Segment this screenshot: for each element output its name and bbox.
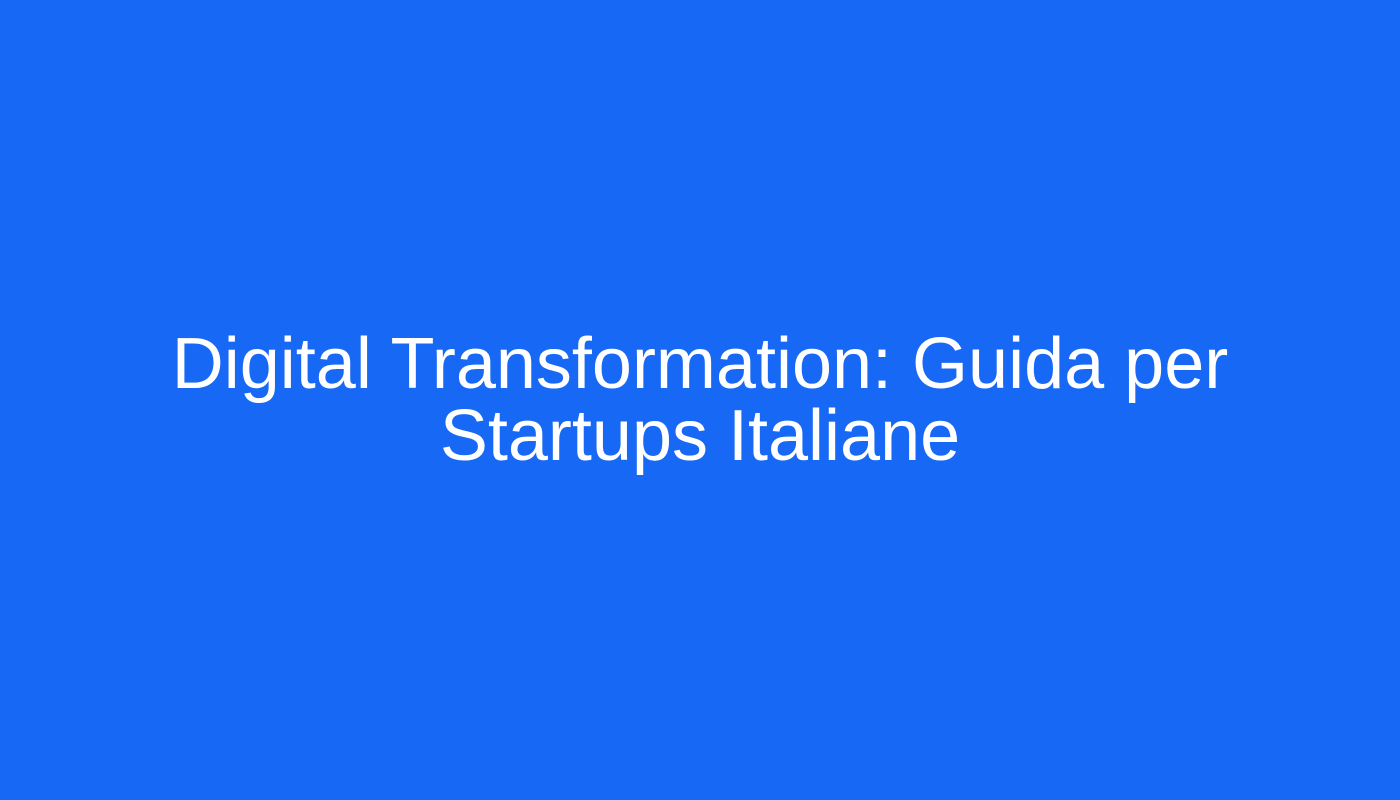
hero-banner: Digital Transformation: Guida per Startu…	[0, 0, 1400, 800]
hero-content-container: Digital Transformation: Guida per Startu…	[135, 328, 1265, 472]
page-title: Digital Transformation: Guida per Startu…	[135, 328, 1265, 472]
